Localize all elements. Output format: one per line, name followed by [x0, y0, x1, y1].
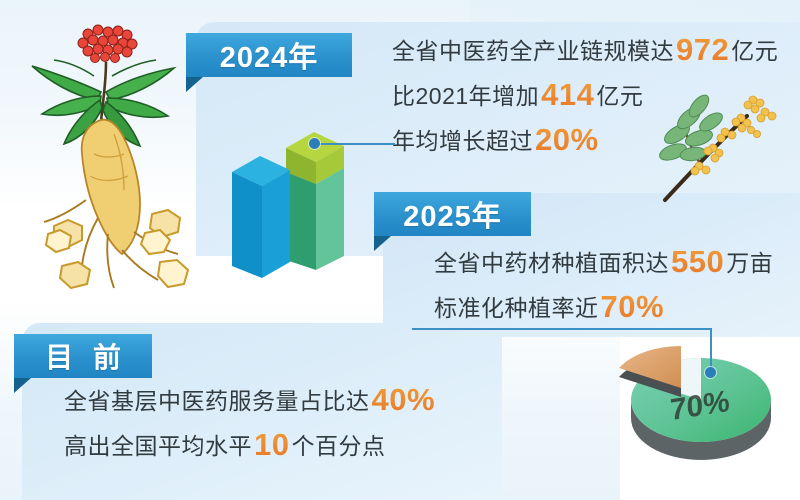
ribbon-fold-icon [374, 236, 391, 251]
highlight-number: 972 [674, 32, 731, 67]
ginseng-plant-illustration [2, 4, 202, 294]
pie-chart-3d: 70% [597, 330, 800, 490]
statement-block-now: 全省基层中医药服务量占比达40%高出全国平均水平10个百分点 [64, 378, 437, 468]
statement-block-2025: 全省中药材种植面积达550万亩标准化种植率近70% [434, 240, 773, 330]
connector-line-2025-to-pie-vertical [710, 328, 712, 372]
statement-text: 标准化种植率近 [434, 295, 599, 321]
statement-line: 年均增长超过20% [392, 118, 778, 163]
ginseng-berries [78, 25, 137, 63]
statement-line: 比2021年增加414亿元 [392, 73, 778, 118]
bar-2021-left-face [232, 172, 262, 278]
ribbon-2025-text: 2025年 [403, 193, 502, 235]
statement-text: 万亩 [726, 250, 773, 276]
highlight-number: 40% [370, 382, 438, 417]
statement-line: 全省基层中医药服务量占比达40% [64, 378, 437, 423]
infographic-canvas: 70% 2024年 2025年 目 前 全省中医药全产业链规模达972亿元比20… [0, 0, 800, 500]
statement-text: 高出全国平均水平 [64, 433, 252, 459]
connector-line-bars-to-2024 [315, 143, 395, 145]
highlight-number: 414 [539, 77, 596, 112]
statement-line: 高出全国平均水平10个百分点 [64, 423, 437, 468]
bar-2024-left-face [286, 172, 316, 270]
bar-2024 [286, 132, 344, 270]
connector-dot-pie [705, 367, 716, 378]
bar-2024-right-face [316, 168, 344, 270]
statement-text: 亿元 [596, 83, 643, 109]
ginseng-root [44, 120, 178, 288]
highlight-number: 70% [599, 289, 667, 324]
ribbon-2024-text: 2024年 [220, 34, 319, 76]
connector-line-2025-to-pie-horizontal [412, 328, 712, 330]
bar-2021-right-face [262, 170, 290, 278]
ribbon-label-2024: 2024年 [186, 33, 352, 77]
highlight-number: 20% [533, 122, 601, 157]
statement-line: 全省中药材种植面积达550万亩 [434, 240, 773, 285]
highlight-number: 550 [669, 244, 726, 279]
statement-block-2024: 全省中医药全产业链规模达972亿元比2021年增加414亿元年均增长超过20% [392, 28, 778, 163]
statement-text: 全省基层中医药服务量占比达 [64, 388, 370, 414]
statement-line: 全省中医药全产业链规模达972亿元 [392, 28, 778, 73]
statement-line: 标准化种植率近70% [434, 285, 773, 330]
bar-chart-3d [228, 110, 368, 280]
statement-text: 全省中医药全产业链规模达 [392, 38, 674, 64]
statement-text: 个百分点 [291, 433, 385, 459]
highlight-number: 10 [252, 427, 291, 462]
ribbon-fold-icon [14, 378, 31, 393]
bar-2021 [232, 156, 290, 278]
statement-text: 亿元 [731, 38, 778, 64]
connector-dot-bars [309, 138, 320, 149]
ribbon-now-text: 目 前 [45, 336, 127, 376]
statement-text: 年均增长超过 [392, 128, 533, 154]
ribbon-label-now: 目 前 [14, 334, 152, 378]
statement-text: 比2021年增加 [392, 83, 539, 109]
ribbon-label-2025: 2025年 [374, 192, 531, 236]
ribbon-fold-icon [186, 77, 203, 92]
statement-text: 全省中药材种植面积达 [434, 250, 669, 276]
